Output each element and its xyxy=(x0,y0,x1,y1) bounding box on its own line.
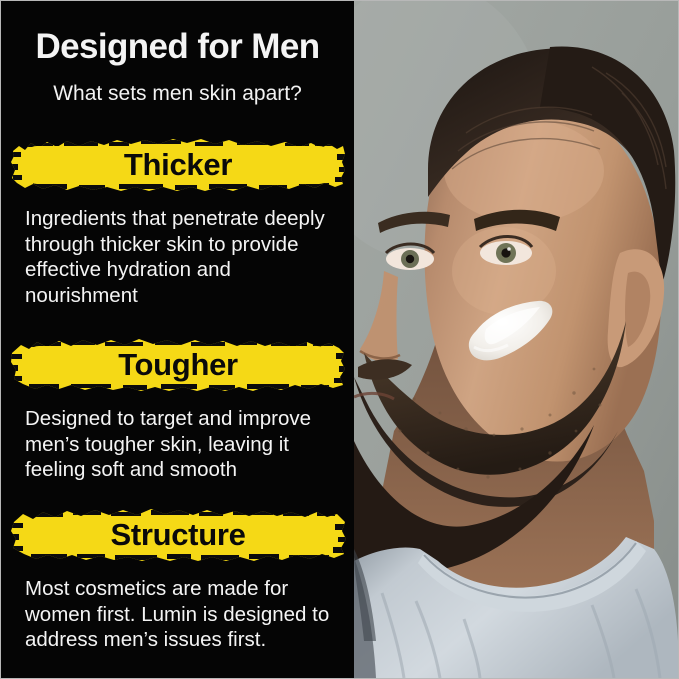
highlight-band-thicker: Thicker xyxy=(9,134,347,196)
highlight-band-tougher: Tougher xyxy=(9,334,347,396)
section-heading-structure: Structure xyxy=(9,504,347,566)
section-body-structure: Most cosmetics are made for women first.… xyxy=(25,576,340,653)
page-subtitle: What sets men skin apart? xyxy=(1,81,354,107)
product-model-photo xyxy=(354,1,678,678)
highlight-band-structure: Structure xyxy=(9,504,347,566)
section-heading-tougher: Tougher xyxy=(9,334,347,396)
info-panel: Designed for Men What sets men skin apar… xyxy=(1,1,354,678)
section-body-thicker: Ingredients that penetrate deeply throug… xyxy=(25,206,340,308)
section-body-tougher: Designed to target and improve men’s tou… xyxy=(25,406,340,483)
ad-image-frame: Designed for Men What sets men skin apar… xyxy=(0,0,679,679)
page-title: Designed for Men xyxy=(1,27,354,67)
section-heading-thicker: Thicker xyxy=(9,134,347,196)
